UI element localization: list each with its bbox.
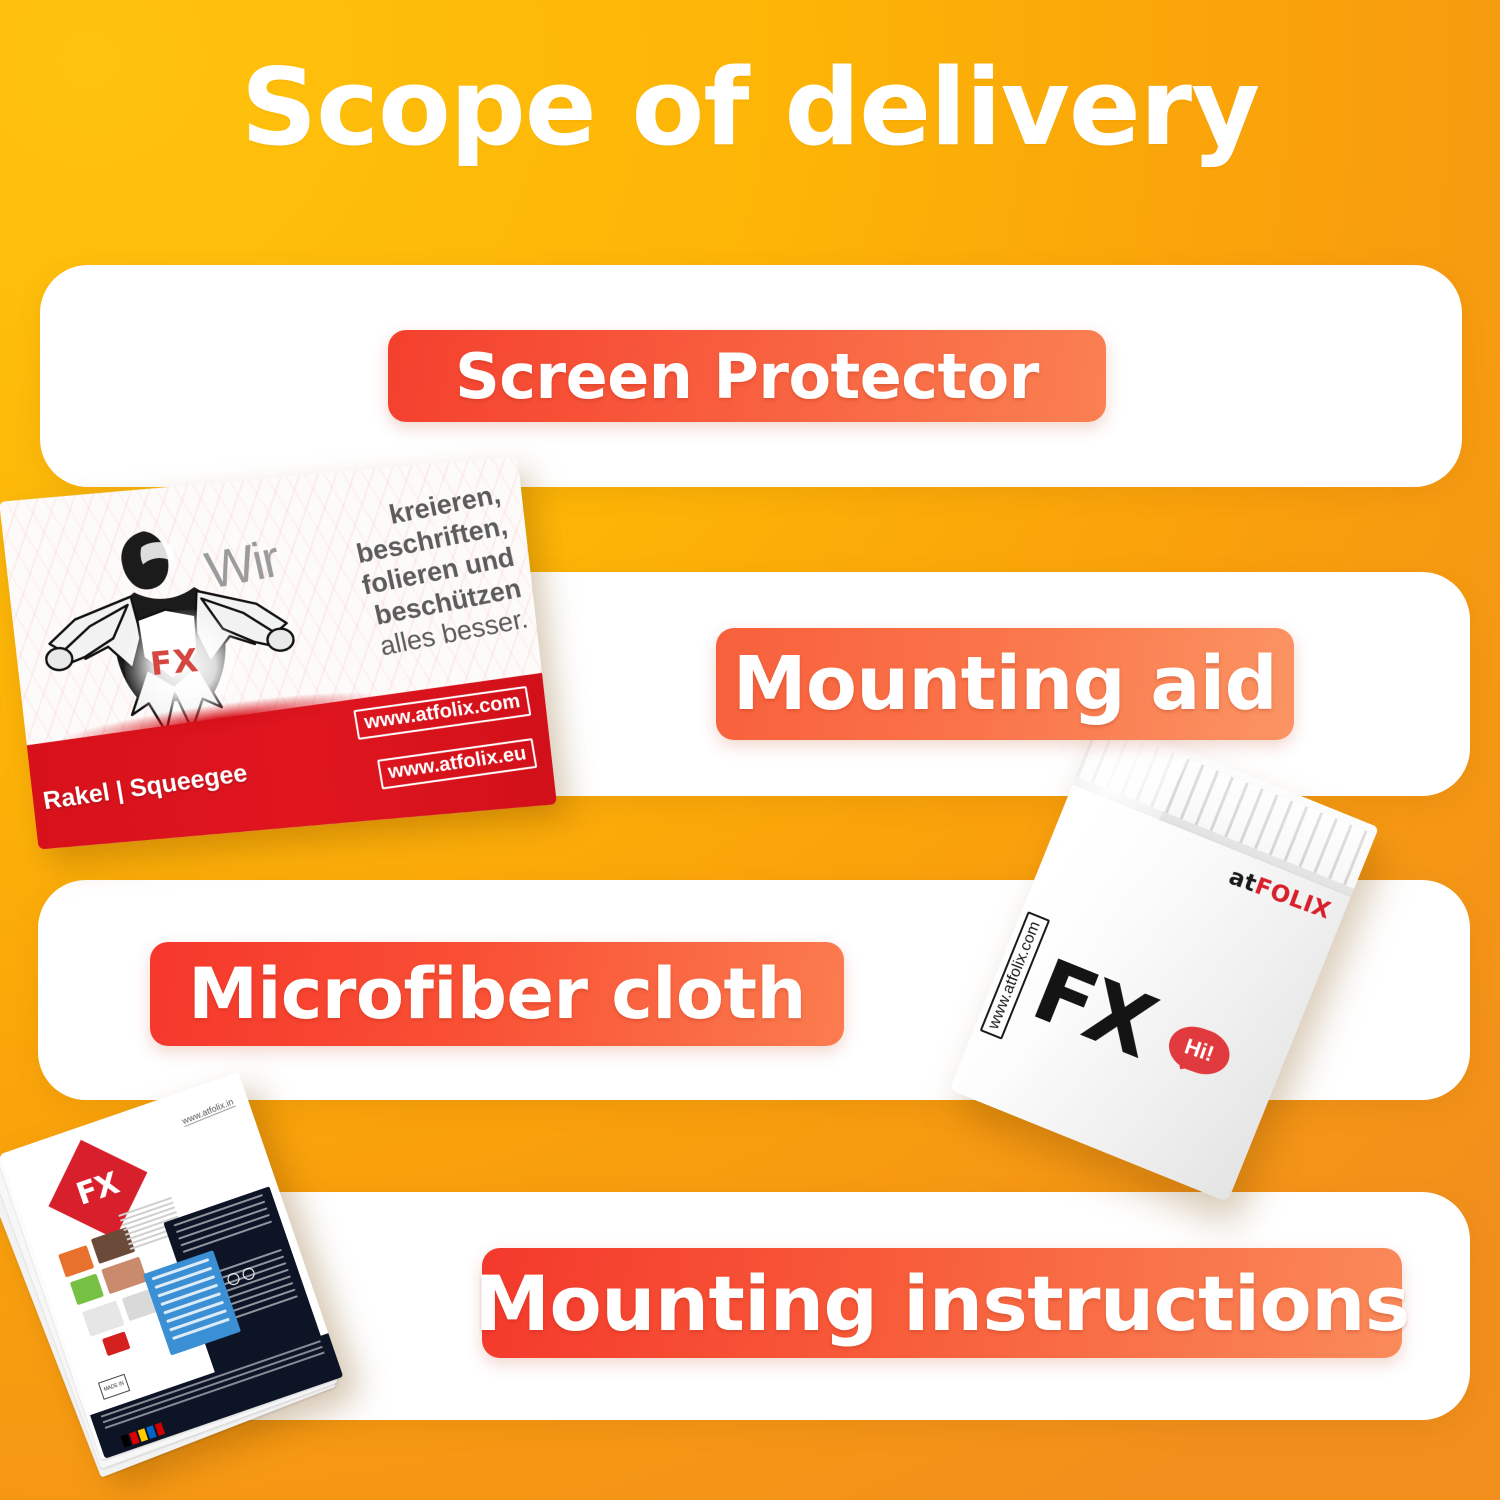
label-mounting-instructions[interactable]: Mounting instructions bbox=[482, 1248, 1402, 1358]
label-microfiber-cloth[interactable]: Microfiber cloth bbox=[150, 942, 844, 1046]
leaflet-url: www.atfolix.in bbox=[181, 1096, 236, 1127]
label-screen-protector-text: Screen Protector bbox=[429, 340, 1065, 413]
mounting-instructions-leaflet-photo: FX www.atfolix.in bbox=[0, 1048, 426, 1496]
leaflet-fx-mark: FX bbox=[73, 1166, 124, 1213]
label-mounting-instructions-text: Mounting instructions bbox=[448, 1259, 1435, 1348]
squeegee-card-photo: FX Wir kreieren, beschriften, folieren u… bbox=[0, 450, 556, 857]
scope-of-delivery-graphic: Scope of delivery bbox=[0, 0, 1500, 1500]
label-mounting-aid-text: Mounting aid bbox=[707, 641, 1303, 727]
hi-speech-bubble: Hi! bbox=[1163, 1020, 1236, 1082]
label-mounting-aid[interactable]: Mounting aid bbox=[716, 628, 1294, 740]
fx-shield-mark: FX bbox=[148, 641, 201, 683]
page-title: Scope of delivery bbox=[0, 52, 1500, 163]
made-in-germany-badge: MADE IN bbox=[98, 1374, 130, 1400]
label-microfiber-cloth-text: Microfiber cloth bbox=[162, 953, 832, 1035]
label-screen-protector[interactable]: Screen Protector bbox=[388, 330, 1106, 422]
